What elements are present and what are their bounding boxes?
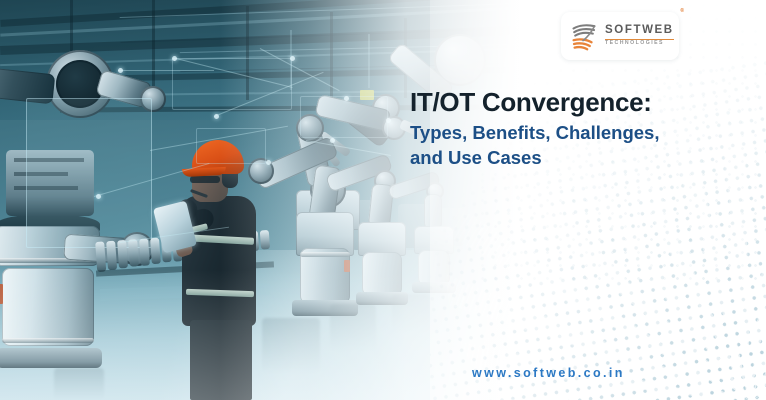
safety-glasses bbox=[190, 176, 220, 183]
page-subtitle-line-1: Types, Benefits, Challenges, bbox=[410, 122, 659, 143]
page-subtitle: Types, Benefits, Challenges, and Use Cas… bbox=[410, 121, 750, 170]
softweb-swoosh-icon bbox=[570, 20, 600, 52]
blog-banner: SOFTWEB ® TECHNOLOGIES IT/OT Convergence… bbox=[0, 0, 766, 400]
registered-mark-icon: ® bbox=[680, 9, 684, 14]
page-title: IT/OT Convergence: bbox=[410, 88, 750, 117]
logo-wordmark: SOFTWEB bbox=[605, 25, 674, 37]
page-subtitle-line-2: and Use Cases bbox=[410, 147, 542, 168]
right-decorative-panel bbox=[430, 0, 766, 400]
headline-block: IT/OT Convergence: Types, Benefits, Chal… bbox=[410, 88, 750, 170]
logo-tagline: TECHNOLOGIES bbox=[605, 41, 674, 46]
softweb-technologies-logo[interactable]: SOFTWEB ® TECHNOLOGIES bbox=[561, 12, 679, 60]
website-url[interactable]: www.softweb.co.in bbox=[472, 366, 625, 380]
